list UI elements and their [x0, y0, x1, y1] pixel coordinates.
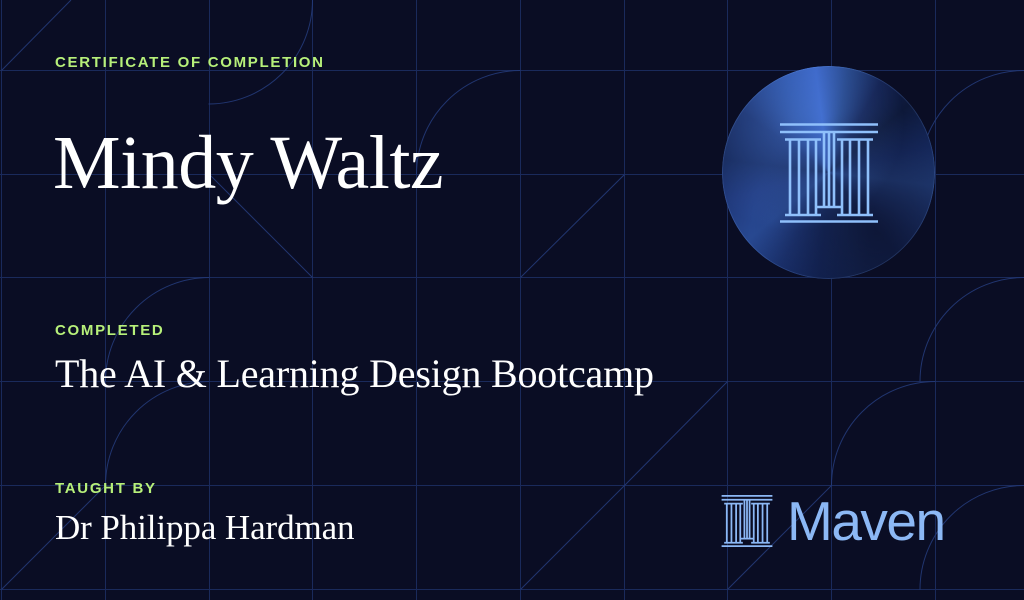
taught-by-label: TAUGHT BY	[55, 480, 354, 497]
instructor-name: Dr Philippa Hardman	[55, 507, 354, 549]
course-title: The AI & Learning Design Bootcamp	[55, 350, 654, 398]
maven-pillars-icon	[719, 493, 775, 549]
completed-section: COMPLETED The AI & Learning Design Bootc…	[55, 322, 654, 398]
completed-label: COMPLETED	[55, 322, 654, 339]
maven-logo[interactable]: Maven	[719, 493, 945, 549]
certificate-card: CERTIFICATE OF COMPLETION Mindy Waltz CO…	[0, 0, 1024, 600]
certificate-eyebrow-label: CERTIFICATE OF COMPLETION	[55, 54, 325, 71]
taught-by-section: TAUGHT BY Dr Philippa Hardman	[55, 480, 354, 549]
recipient-name: Mindy Waltz	[53, 118, 443, 208]
maven-wordmark: Maven	[787, 494, 945, 549]
